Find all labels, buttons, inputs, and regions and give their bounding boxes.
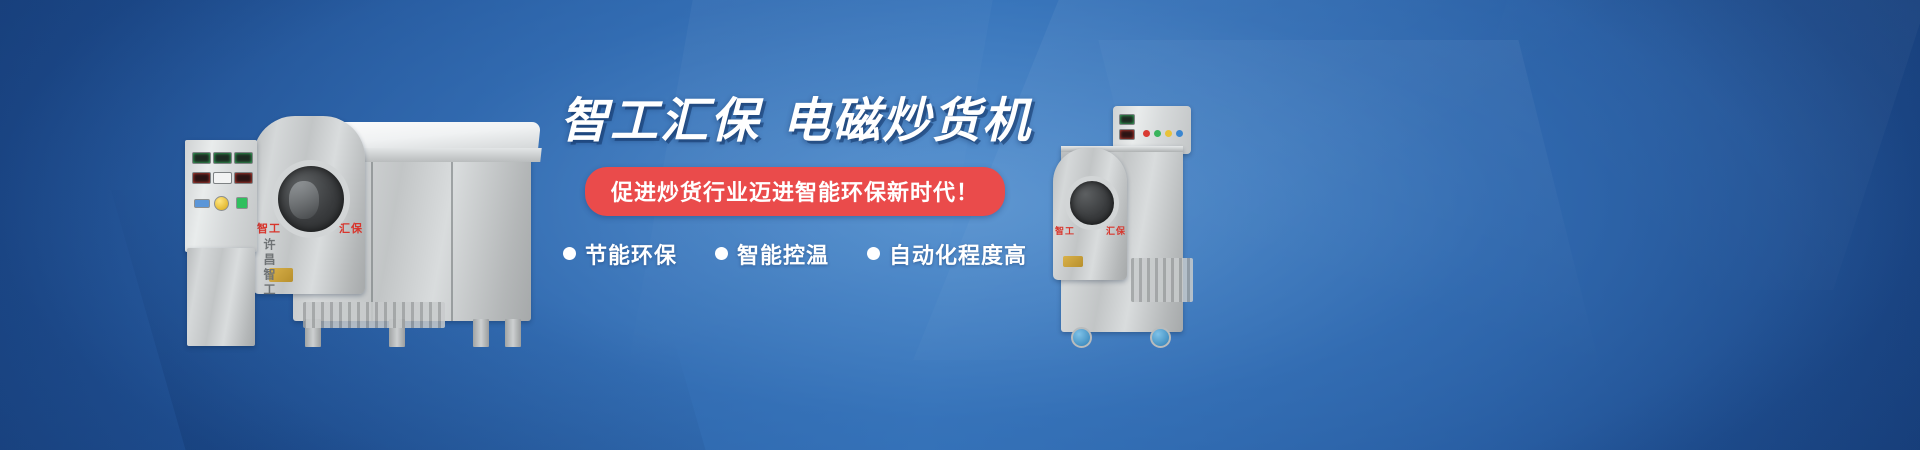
machine-brand-right: 汇保 bbox=[339, 220, 363, 236]
feature-label: 智能控温 bbox=[737, 238, 829, 270]
panel-display-1 bbox=[192, 152, 211, 164]
background-facet-5 bbox=[1413, 0, 1920, 290]
headline-product: 电磁炒货机 bbox=[782, 95, 1032, 148]
machine-brand-left: 智工 bbox=[257, 220, 281, 236]
banner-copy-block: 智工汇保电磁炒货机 促进炒货行业迈进智能环保新时代！ 节能环保 智能控温 自动化… bbox=[560, 96, 1030, 270]
panel-display-4 bbox=[192, 172, 211, 184]
product-image-left-machine: 智工 汇保 许昌智工 bbox=[175, 88, 565, 358]
panel-display-5 bbox=[213, 172, 232, 184]
cabinet-seam bbox=[371, 146, 373, 321]
feature-item-1: 节能环保 bbox=[563, 238, 677, 270]
feature-item-2: 智能控温 bbox=[715, 238, 829, 270]
machine-control-cabinet bbox=[187, 248, 255, 346]
machine-nameplate bbox=[1063, 256, 1083, 267]
panel-button-green[interactable] bbox=[1154, 130, 1161, 137]
machine-vent-grille bbox=[303, 302, 445, 328]
background-facet-1 bbox=[914, 0, 1704, 360]
panel-display-2 bbox=[213, 152, 232, 164]
panel-button-red[interactable] bbox=[1143, 130, 1150, 137]
feature-label: 自动化程度高 bbox=[889, 238, 1027, 270]
cabinet-seam bbox=[451, 146, 453, 321]
bullet-dot-icon bbox=[867, 247, 880, 260]
panel-display-6 bbox=[234, 172, 253, 184]
bullet-dot-icon bbox=[563, 247, 576, 260]
machine-brand-right: 汇保 bbox=[1106, 224, 1126, 237]
banner-feature-list: 节能环保 智能控温 自动化程度高 bbox=[560, 238, 1030, 270]
machine-drum-opening bbox=[1065, 176, 1119, 230]
machine-brand-left: 智工 bbox=[1055, 224, 1075, 237]
machine-leg bbox=[473, 319, 489, 347]
promo-banner: 智工 汇保 许昌智工 bbox=[0, 0, 1920, 450]
headline-brand: 智工汇保 bbox=[560, 95, 760, 148]
machine-control-panel bbox=[185, 140, 257, 252]
panel-switch[interactable] bbox=[194, 199, 210, 208]
banner-headline: 智工汇保电磁炒货机 bbox=[560, 96, 1030, 149]
panel-display-1 bbox=[1119, 114, 1135, 125]
panel-start-button[interactable] bbox=[236, 197, 248, 209]
machine-drum-opening bbox=[272, 160, 350, 238]
machine-caster bbox=[1071, 327, 1092, 348]
panel-display-3 bbox=[234, 152, 253, 164]
machine-side-text: 许昌智工 bbox=[261, 238, 278, 298]
bullet-dot-icon bbox=[715, 247, 728, 260]
product-image-right-machine: 智工 汇保 bbox=[1035, 92, 1245, 357]
panel-display-2 bbox=[1119, 129, 1135, 140]
feature-item-3: 自动化程度高 bbox=[867, 238, 1027, 270]
panel-button-yellow[interactable] bbox=[1165, 130, 1172, 137]
machine-vent-grille bbox=[1131, 258, 1193, 302]
feature-label: 节能环保 bbox=[585, 238, 677, 270]
machine-caster bbox=[1150, 327, 1171, 348]
emergency-stop-knob[interactable] bbox=[214, 196, 229, 211]
banner-subtitle-badge: 促进炒货行业迈进智能环保新时代！ bbox=[585, 167, 1005, 216]
machine-leg bbox=[505, 319, 521, 347]
banner-badge-row: 促进炒货行业迈进智能环保新时代！ bbox=[560, 167, 1030, 216]
panel-button-blue[interactable] bbox=[1176, 130, 1183, 137]
